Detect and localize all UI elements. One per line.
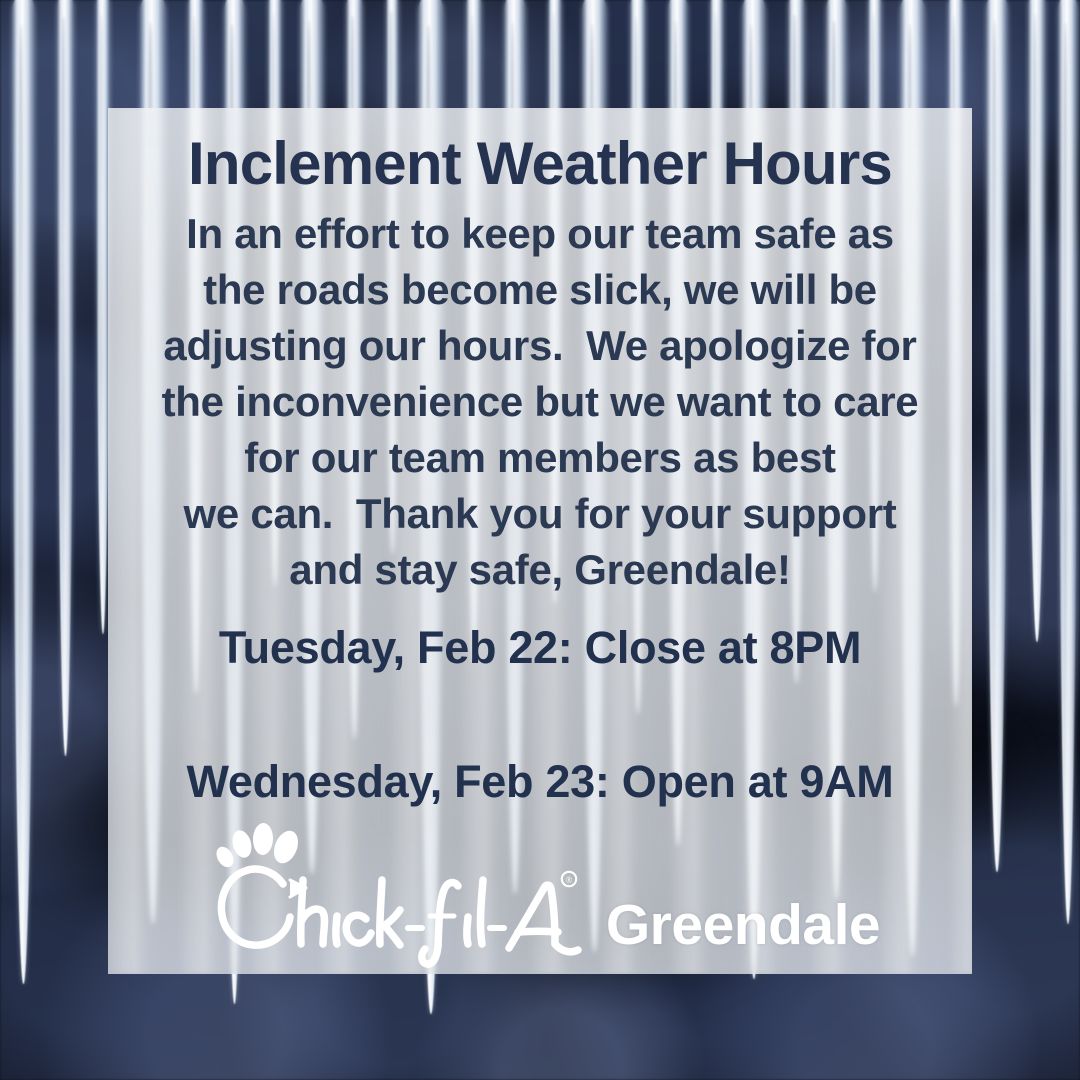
- message-line: for our team members as best: [116, 430, 964, 486]
- chick-fil-a-script: [221, 869, 578, 964]
- hours-line-wednesday: Wednesday, Feb 23: Open at 9AM: [108, 756, 972, 808]
- message-line: adjusting our hours. We apologize for: [116, 318, 964, 374]
- message-body: In an effort to keep our team safe asthe…: [108, 206, 972, 598]
- brand-lockup: ® Greendale: [108, 818, 972, 968]
- message-line: In an effort to keep our team safe as: [116, 206, 964, 262]
- store-name-label: Greendale: [606, 897, 880, 968]
- icicle: [12, 0, 35, 984]
- icicle: [986, 0, 1008, 872]
- message-line: the inconvenience but we want to care: [116, 374, 964, 430]
- chicken-comb-icon: [213, 823, 303, 871]
- message-line: and stay safe, Greendale!: [116, 542, 964, 598]
- chick-fil-a-logo: ®: [206, 818, 606, 968]
- icicle: [1028, 0, 1046, 642]
- icicle: [1058, 0, 1078, 924]
- weather-hours-poster: Inclement Weather Hours In an effort to …: [0, 0, 1080, 1080]
- message-card: Inclement Weather Hours In an effort to …: [108, 108, 972, 974]
- hours-line-tuesday: Tuesday, Feb 22: Close at 8PM: [108, 622, 972, 674]
- message-line: the roads become slick, we will be: [116, 262, 964, 318]
- registered-mark-glyph: ®: [565, 875, 572, 885]
- registered-trademark-mark: ®: [562, 872, 576, 886]
- page-title: Inclement Weather Hours: [108, 108, 972, 196]
- message-line: we can. Thank you for your support: [116, 486, 964, 542]
- icicle: [57, 0, 74, 756]
